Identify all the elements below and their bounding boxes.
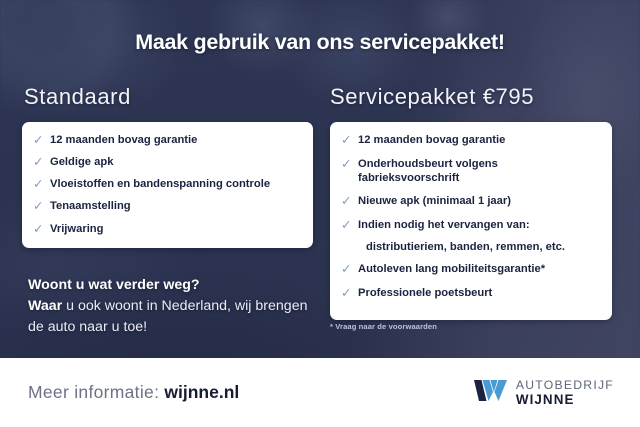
check-icon: ✓: [33, 133, 46, 149]
service-package-banner: Maak gebruik van ons servicepakket! Stan…: [0, 0, 640, 427]
check-icon: ✓: [33, 155, 46, 171]
list-item-label: Vrijwaring: [50, 222, 103, 237]
list-item-label: Nieuwe apk (minimaal 1 jaar): [358, 194, 511, 209]
list-item: ✓ Geldige apk: [33, 155, 301, 171]
list-item: ✓ 12 maanden bovag garantie: [341, 133, 600, 149]
promo-emphasis: Waar: [28, 298, 62, 314]
logo-wordmark: AUTOBEDRIJF WIJNNE: [516, 379, 614, 406]
wijnne-w-logo-icon: [473, 378, 509, 408]
list-item-label: Indien nodig het vervangen van:: [358, 218, 565, 233]
column-heading-servicepakket: Servicepakket €795: [330, 84, 534, 110]
delivery-promo-text: Woont u wat verder weg? Waar u ook woont…: [28, 275, 318, 338]
more-info-label: Meer informatie:: [28, 382, 159, 402]
check-icon: ✓: [341, 133, 354, 149]
list-item-label: 12 maanden bovag garantie: [358, 133, 505, 148]
list-item-label: Vloeistoffen en bandenspanning controle: [50, 177, 270, 192]
list-item-label: Professionele poetsbeurt: [358, 286, 492, 301]
list-item-label: Geldige apk: [50, 155, 113, 170]
list-item: ✓ Indien nodig het vervangen van: distri…: [341, 218, 600, 255]
standaard-feature-list: ✓ 12 maanden bovag garantie ✓ Geldige ap…: [33, 133, 301, 237]
promo-line2: u ook woont in Nederland, wij: [62, 298, 251, 314]
check-icon: ✓: [33, 177, 46, 193]
logo-name-bottom: WIJNNE: [516, 393, 614, 406]
terms-footnote: * Vraag naar de voorwaarden: [330, 322, 437, 331]
list-item-label: 12 maanden bovag garantie: [50, 133, 197, 148]
list-item: ✓ 12 maanden bovag garantie: [33, 133, 301, 149]
page-title: Maak gebruik van ons servicepakket!: [0, 30, 640, 55]
logo-name-top: AUTOBEDRIJF: [516, 379, 614, 391]
check-icon: ✓: [341, 262, 354, 278]
check-icon: ✓: [33, 199, 46, 215]
list-item: ✓ Professionele poetsbeurt: [341, 286, 600, 302]
check-icon: ✓: [341, 286, 354, 302]
list-item-label-group: Indien nodig het vervangen van: distribu…: [358, 218, 565, 255]
more-info-text: Meer informatie: wijnne.nl: [28, 382, 239, 403]
list-item: ✓ Vrijwaring: [33, 222, 301, 238]
check-icon: ✓: [341, 194, 354, 210]
list-item: ✓ Onderhoudsbeurt volgens fabrieksvoorsc…: [341, 157, 600, 187]
check-icon: ✓: [33, 222, 46, 238]
standaard-feature-card: ✓ 12 maanden bovag garantie ✓ Geldige ap…: [22, 122, 313, 248]
list-item-sublabel: distributieriem, banden, remmen, etc.: [358, 240, 565, 255]
list-item: ✓ Vloeistoffen en bandenspanning control…: [33, 177, 301, 193]
list-item: ✓ Autoleven lang mobiliteitsgarantie*: [341, 262, 600, 278]
check-icon: ✓: [341, 218, 354, 234]
list-item-label: Autoleven lang mobiliteitsgarantie*: [358, 262, 545, 277]
list-item-label: Onderhoudsbeurt volgens fabrieksvoorschr…: [358, 157, 600, 187]
servicepakket-feature-card: ✓ 12 maanden bovag garantie ✓ Onderhouds…: [330, 122, 612, 320]
company-logo[interactable]: AUTOBEDRIJF WIJNNE: [473, 378, 614, 408]
website-link[interactable]: wijnne.nl: [164, 382, 239, 402]
column-heading-standaard: Standaard: [24, 84, 131, 110]
list-item: ✓ Tenaamstelling: [33, 199, 301, 215]
list-item-label: Tenaamstelling: [50, 199, 131, 214]
servicepakket-feature-list: ✓ 12 maanden bovag garantie ✓ Onderhouds…: [341, 133, 600, 302]
promo-question: Woont u wat verder weg?: [28, 275, 318, 296]
check-icon: ✓: [341, 157, 354, 173]
list-item: ✓ Nieuwe apk (minimaal 1 jaar): [341, 194, 600, 210]
footer-bar: Meer informatie: wijnne.nl AUTOBEDRIJF W…: [0, 358, 640, 427]
